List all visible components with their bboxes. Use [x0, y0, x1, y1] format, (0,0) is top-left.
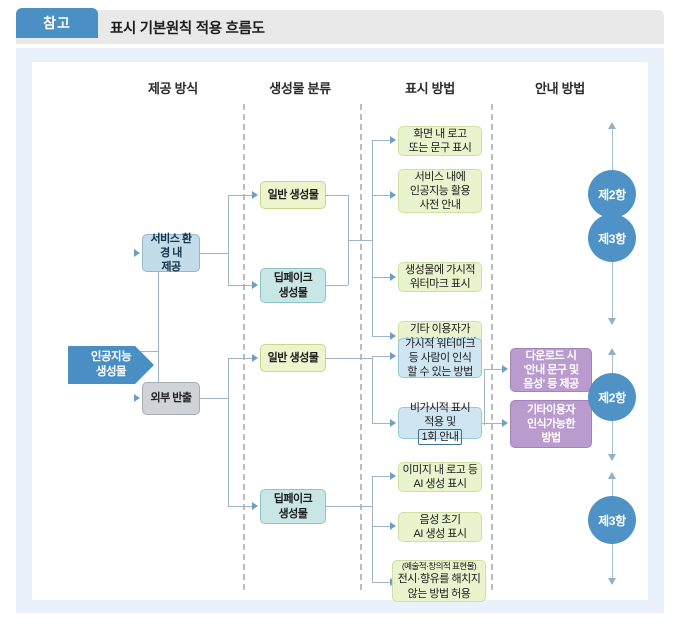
arrow-method-m1 [390, 352, 396, 360]
connector-method-b1 [372, 476, 390, 477]
flowchart-page: 참고 표시 기본원칙 적용 흐름도 제공 방식 생성물 분류 표시 방법 안내 … [0, 0, 680, 625]
arrow-method-b1 [390, 472, 396, 480]
clause-badge-3[interactable]: 제2항 [588, 373, 636, 421]
method-t1-line2: 또는 문구 표시 [409, 142, 472, 154]
method-t2-line2: 인공지능 활용 [410, 185, 470, 197]
arrow-deepfake-1 [252, 281, 258, 289]
arrow-method-t1 [390, 136, 396, 144]
arrow-method-m2 [390, 419, 396, 427]
guidance-1-line2: '안내 문구 및 [523, 364, 578, 376]
connector-g1-out [326, 195, 348, 196]
connector-d1-out [326, 285, 348, 286]
method-m1-line3: 할 수 있는 방법 [407, 366, 472, 378]
connector-method-top-bus [372, 140, 373, 336]
node-method-audio-intro[interactable]: 음성 초기 AI 생성 표시 [398, 512, 482, 542]
node-method-invisible-mark[interactable]: 비가시적 표시 적용 및 1회 안내 [398, 407, 482, 439]
method-m2-line1: 비가시적 표시 [410, 402, 470, 414]
connector-g2-link [360, 358, 372, 359]
column-title-delivery: 제공 방식 [128, 78, 218, 97]
connector-method-b3 [372, 582, 390, 583]
connector-to-general-1 [228, 195, 252, 196]
connector-to-general-2 [228, 358, 252, 359]
column-title-method: 표시 방법 [380, 78, 480, 97]
connector-method-bot-bus [372, 476, 373, 582]
connector-method-mid-bus [372, 356, 373, 424]
column-title-classification: 생성물 분류 [250, 78, 350, 97]
node-guidance-download-notice[interactable]: 다운로드 시 '안내 문구 및 음성' 등 제공 [510, 348, 592, 392]
method-t2-line1: 서비스 내에 [415, 171, 466, 183]
connector-external-out [200, 398, 228, 399]
connector-method-m2 [372, 423, 390, 424]
method-b3-line2: 않는 방법 허용 [408, 588, 471, 600]
arrow-method-t3 [390, 273, 396, 281]
method-t1-line1: 화면 내 로고 [413, 128, 466, 140]
guidance-2-line3: 방법 [541, 432, 560, 444]
node-method-screen-logo[interactable]: 화면 내 로고 또는 문구 표시 [398, 126, 482, 156]
connector-inservice-out [200, 253, 228, 254]
connector-method-t3 [372, 277, 390, 278]
method-b1-line2: AI 생성 표시 [413, 478, 466, 490]
start-node-line1: 인공지능 [91, 351, 131, 363]
column-title-guidance: 안내 방법 [510, 78, 610, 97]
arrow-deepfake-2 [252, 502, 258, 510]
connector-g2-out [326, 358, 360, 359]
node-delivery-external[interactable]: 외부 반출 [142, 382, 200, 415]
arrow-external [134, 394, 140, 402]
classification-general-2-label: 일반 생성물 [268, 351, 319, 365]
connector-method-b2 [372, 526, 390, 527]
method-t2-line3: 사전 안내 [419, 199, 460, 211]
method-b3-note: (예술적·창의적 표현물) [398, 561, 481, 572]
arrow-general-2 [252, 354, 258, 362]
node-method-artistic-exception[interactable]: (예술적·창의적 표현물) 전시·향유를 해치지 않는 방법 허용 [392, 560, 486, 602]
guidance-2-line1: 기타이용자 [527, 404, 575, 416]
header-tag: 참고 [16, 8, 98, 38]
node-method-human-perceivable[interactable]: 가시적 워터마크 등 사람이 인식 할 수 있는 방법 [398, 338, 482, 378]
connector-d2-out [326, 506, 372, 507]
classification-deepfake-1-line2: 생성물 [279, 287, 308, 299]
page-title: 표시 기본원칙 적용 흐름도 [110, 10, 265, 44]
connector-guidance-1 [484, 369, 502, 370]
method-b1-line1: 이미지 내 로고 등 [402, 464, 477, 476]
connector-guidance-2 [484, 423, 502, 424]
connector-method-t1 [372, 140, 390, 141]
node-method-visible-watermark[interactable]: 생성물에 가시적 워터마크 표시 [398, 262, 482, 292]
arrow-method-t2 [390, 191, 396, 199]
connector-method-t2 [372, 195, 390, 196]
arrow-guidance-2 [502, 419, 508, 427]
diagram-canvas: 제공 방식 생성물 분류 표시 방법 안내 방법 [32, 62, 648, 600]
clause-badge-4[interactable]: 제3항 [588, 496, 636, 544]
node-classification-deepfake-1[interactable]: 딥페이크 생성물 [260, 268, 326, 303]
node-delivery-in-service[interactable]: 서비스 환경 내 제공 [142, 234, 200, 272]
guidance-2-line2: 인식가능한 [527, 418, 575, 430]
method-t3-line1: 생성물에 가시적 [405, 264, 475, 276]
clause-badge-1[interactable]: 제2항 [588, 170, 636, 218]
node-method-prior-notice[interactable]: 서비스 내에 인공지능 활용 사전 안내 [398, 169, 482, 213]
arrow-guidance-1 [502, 365, 508, 373]
connector-external-bus [228, 358, 229, 506]
rail-arrow-down-mid [608, 454, 616, 461]
connector-group1-bus [348, 240, 372, 241]
guidance-1-line3: 음성' 등 제공 [523, 378, 578, 390]
column-separator-3 [491, 104, 493, 590]
start-node-line2: 생성물 [96, 366, 126, 378]
connector-method-t4 [372, 336, 390, 337]
guidance-1-line1: 다운로드 시 [526, 350, 577, 362]
rail-arrow-down-bottom [608, 578, 616, 585]
classification-general-1-label: 일반 생성물 [268, 188, 319, 202]
node-classification-deepfake-2[interactable]: 딥페이크 생성물 [260, 489, 326, 524]
node-method-image-logo[interactable]: 이미지 내 로고 등 AI 생성 표시 [398, 462, 482, 492]
connector-to-deepfake-1 [228, 285, 252, 286]
method-m1-line1: 가시적 워터마크 [405, 338, 475, 350]
column-separator-1 [243, 104, 245, 590]
method-b2-line2: AI 생성 표시 [414, 528, 467, 540]
arrow-in-service [134, 249, 140, 257]
method-m1-line2: 등 사람이 인식 [409, 352, 472, 364]
method-m2-line2-pre: 적용 및 [424, 416, 455, 428]
classification-deepfake-2-line2: 생성물 [279, 508, 308, 520]
method-t4-line1: 기타 이용자가 [410, 323, 470, 335]
arrow-general-1 [252, 191, 258, 199]
method-b2-line1: 음성 초기 [419, 514, 460, 526]
column-separator-2 [360, 104, 362, 590]
node-ai-generated-content[interactable]: 인공지능 생성물 [68, 340, 154, 390]
connector-guidance-bus [484, 369, 485, 425]
node-guidance-other-recognizable[interactable]: 기타이용자 인식가능한 방법 [510, 400, 592, 448]
rail-arrow-down-top [608, 318, 616, 325]
delivery-external-line1: 외부 반출 [150, 391, 191, 405]
arrow-method-t4 [390, 332, 396, 340]
classification-deepfake-2-line1: 딥페이크 [274, 493, 312, 505]
connector-method-m1 [372, 356, 390, 357]
method-m2-token-highlight: 1회 안내 [418, 429, 461, 445]
connector-to-deepfake-2 [228, 506, 252, 507]
connector-inservice-bus [228, 195, 229, 285]
node-classification-general-1[interactable]: 일반 생성물 [260, 181, 326, 209]
method-b3-line1: 전시·향유를 해치지 [398, 573, 481, 585]
arrow-method-b2 [390, 522, 396, 530]
method-t3-line2: 워터마크 표시 [410, 278, 470, 290]
classification-deepfake-1-line1: 딥페이크 [274, 272, 312, 284]
diagram-panel: 제공 방식 생성물 분류 표시 방법 안내 방법 [16, 48, 664, 613]
node-classification-general-2[interactable]: 일반 생성물 [260, 344, 326, 372]
delivery-in-service-line1: 서비스 환경 내 [150, 233, 191, 259]
delivery-in-service-line2: 제공 [161, 261, 180, 273]
clause-badge-2[interactable]: 제3항 [588, 214, 636, 262]
